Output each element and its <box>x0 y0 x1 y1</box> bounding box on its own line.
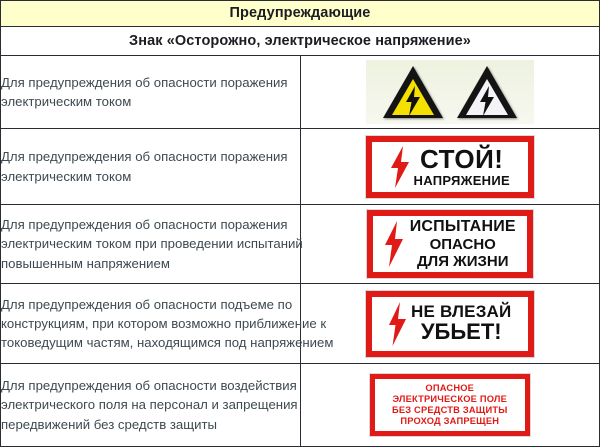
table-row: Для предупреждения об опасности воздейст… <box>1 364 600 447</box>
table-row: Для предупреждения об опасности поражени… <box>1 129 600 205</box>
test-danger-to-life-placard: ИСПЫТАНИЕ ОПАСНО ДЛЯ ЖИЗНИ <box>367 210 533 278</box>
row-description-cell: Для предупреждения об опасности поражени… <box>1 205 301 284</box>
sign-image-wrapper: СТОЙ! НАПРЯЖЕНИЕ <box>301 136 600 198</box>
row-sign-image-cell: НЕ ВЛЕЗАЙ УБЬЕТ! <box>300 284 600 364</box>
do-not-climb-will-kill-placard: НЕ ВЛЕЗАЙ УБЬЕТ! <box>366 291 534 357</box>
description-line: электрическим током <box>1 167 300 186</box>
description-line: Для предупреждения об опасности подъеме … <box>1 295 300 314</box>
dangerous-electric-field-placard: ОПАСНОЕ ЭЛЕКТРИЧЕСКОЕ ПОЛЕ БЕЗ СРЕДСТВ З… <box>370 374 530 436</box>
row-description-cell: Для предупреждения об опасности поражени… <box>1 129 301 205</box>
placard-line: УБЬЕТ! <box>421 321 502 343</box>
lightning-bolt-icon <box>390 146 410 188</box>
row-description-cell: Для предупреждения об опасности подъеме … <box>1 284 301 364</box>
row-sign-image-cell: ИСПЫТАНИЕ ОПАСНО ДЛЯ ЖИЗНИ <box>300 205 600 284</box>
table-header-category-row: Предупреждающие <box>1 1 600 27</box>
row-sign-image-cell <box>300 56 600 129</box>
warning-triangle-yellow-icon <box>383 66 443 118</box>
sign-image-wrapper <box>301 60 600 124</box>
table-row: Для предупреждения об опасности подъеме … <box>1 284 600 364</box>
lightning-bolt-icon <box>388 302 407 346</box>
table-header-sign-row: Знак «Осторожно, электрическое напряжени… <box>1 27 600 56</box>
placard-line: НЕ ВЛЕЗАЙ <box>411 303 511 320</box>
sign-image-wrapper: ОПАСНОЕ ЭЛЕКТРИЧЕСКОЕ ПОЛЕ БЕЗ СРЕДСТВ З… <box>301 374 600 436</box>
description-line: электрическим током <box>1 92 300 111</box>
description-line: Для предупреждения об опасности поражени… <box>1 73 300 92</box>
description-line: Для предупреждения об опасности воздейст… <box>1 376 300 395</box>
description-line: Для предупреждения об опасности поражени… <box>1 215 300 234</box>
description-line: электрическим током при проведении испыт… <box>1 234 300 253</box>
safety-signs-table: Предупреждающие Знак «Осторожно, электри… <box>0 0 600 447</box>
placard-line: ПРОХОД ЗАПРЕЩЕН <box>400 416 499 427</box>
placard-text: НЕ ВЛЕЗАЙ УБЬЕТ! <box>411 303 511 344</box>
sign-image-wrapper: НЕ ВЛЕЗАЙ УБЬЕТ! <box>301 291 600 357</box>
placard-line: НАПРЯЖЕНИЕ <box>414 174 510 187</box>
lightning-bolt-icon <box>405 86 421 116</box>
description-line: электрического поля на персонал и запрещ… <box>1 395 300 414</box>
description-line: повышенным напряжением <box>1 254 300 273</box>
header-category-cell: Предупреждающие <box>1 1 600 27</box>
lightning-bolt-icon <box>479 86 495 116</box>
placard-text: ИСПЫТАНИЕ ОПАСНО ДЛЯ ЖИЗНИ <box>410 219 516 270</box>
table-row: Для предупреждения об опасности поражени… <box>1 56 600 129</box>
header-sign-title-cell: Знак «Осторожно, электрическое напряжени… <box>1 27 600 56</box>
two-warning-triangles <box>366 60 534 124</box>
row-sign-image-cell: ОПАСНОЕ ЭЛЕКТРИЧЕСКОЕ ПОЛЕ БЕЗ СРЕДСТВ З… <box>300 364 600 447</box>
warning-triangle-white-icon <box>457 66 517 118</box>
placard-line: ОПАСНОЕ <box>425 383 474 394</box>
safety-signs-table-container: Предупреждающие Знак «Осторожно, электри… <box>0 0 600 447</box>
row-description-cell: Для предупреждения об опасности поражени… <box>1 56 301 129</box>
placard-text: ОПАСНОЕ ЭЛЕКТРИЧЕСКОЕ ПОЛЕ БЕЗ СРЕДСТВ З… <box>392 383 508 427</box>
description-line: конструкциям, при котором возможно прибл… <box>1 314 300 333</box>
description-line: Для предупреждения об опасности поражени… <box>1 147 300 166</box>
placard-line: ДЛЯ ЖИЗНИ <box>417 254 509 269</box>
description-line: токоведущим частям, находящимся под напр… <box>1 333 300 352</box>
sign-image-wrapper: ИСПЫТАНИЕ ОПАСНО ДЛЯ ЖИЗНИ <box>301 210 600 278</box>
row-description-cell: Для предупреждения об опасности воздейст… <box>1 364 301 447</box>
placard-line: ОПАСНО <box>430 237 496 252</box>
row-sign-image-cell: СТОЙ! НАПРЯЖЕНИЕ <box>300 129 600 205</box>
placard-line: БЕЗ СРЕДСТВ ЗАЩИТЫ <box>392 405 508 416</box>
lightning-bolt-icon <box>384 221 404 267</box>
stop-voltage-placard: СТОЙ! НАПРЯЖЕНИЕ <box>366 136 534 198</box>
placard-line: СТОЙ! <box>420 146 503 173</box>
description-line: передвижений без средств защиты <box>1 415 300 434</box>
placard-line: ИСПЫТАНИЕ <box>410 219 516 235</box>
placard-line: ЭЛЕКТРИЧЕСКОЕ ПОЛЕ <box>392 394 507 405</box>
table-row: Для предупреждения об опасности поражени… <box>1 205 600 284</box>
placard-text: СТОЙ! НАПРЯЖЕНИЕ <box>414 146 510 187</box>
